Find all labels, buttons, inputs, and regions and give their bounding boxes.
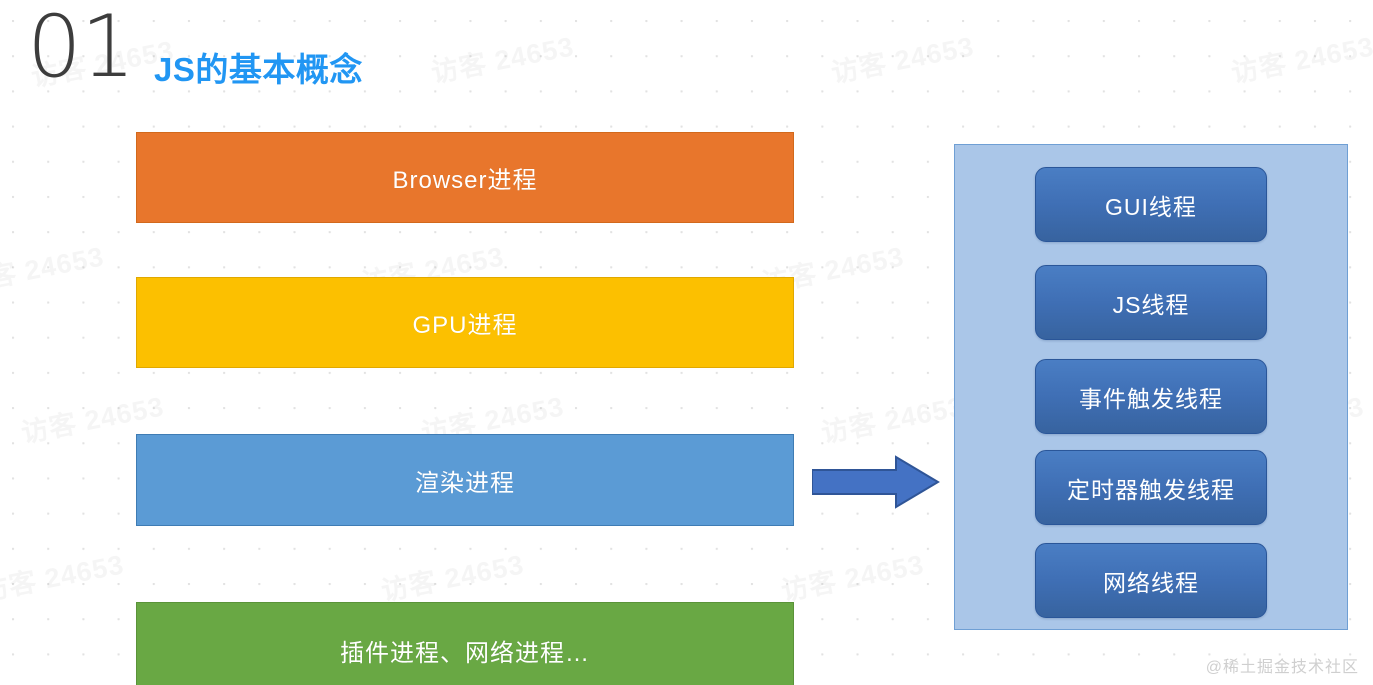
thread-box-network: 网络线程 (1035, 543, 1267, 618)
thread-label: JS线程 (1113, 286, 1190, 320)
arrow-right-icon (812, 455, 940, 510)
slide-header: 01 JS的基本概念 (0, 0, 1373, 110)
background-watermark: 访客 24653 (818, 385, 967, 451)
thread-label: GUI线程 (1105, 188, 1197, 222)
process-box-plugin: 插件进程、网络进程… (136, 602, 794, 685)
process-box-browser: Browser进程 (136, 132, 794, 223)
thread-box-event-trigger: 事件触发线程 (1035, 359, 1267, 434)
process-label: Browser进程 (392, 160, 537, 195)
section-number: 01 (27, 4, 134, 90)
footer-watermark: @稀土掘金技术社区 (1206, 653, 1359, 677)
background-watermark: 访客 24653 (0, 543, 127, 609)
process-box-render: 渲染进程 (136, 434, 794, 526)
process-label: GPU进程 (412, 305, 517, 340)
process-label: 渲染进程 (415, 463, 515, 498)
thread-box-timer-trigger: 定时器触发线程 (1035, 450, 1267, 525)
thread-box-js: JS线程 (1035, 265, 1267, 340)
page-title: JS的基本概念 (154, 43, 363, 91)
slide-canvas: 访客 24653 访客 24653 访客 24653 访客 24653 访客 2… (0, 0, 1373, 685)
background-watermark: 访客 24653 (778, 543, 927, 609)
thread-panel: GUI线程 JS线程 事件触发线程 定时器触发线程 网络线程 (954, 144, 1348, 630)
process-label: 插件进程、网络进程… (340, 633, 590, 668)
background-watermark: 访客 24653 (378, 543, 527, 609)
process-box-gpu: GPU进程 (136, 277, 794, 368)
thread-label: 事件触发线程 (1079, 380, 1223, 414)
thread-label: 定时器触发线程 (1067, 471, 1235, 505)
thread-box-gui: GUI线程 (1035, 167, 1267, 242)
thread-label: 网络线程 (1103, 564, 1199, 598)
background-watermark: 访客 24653 (0, 235, 107, 301)
